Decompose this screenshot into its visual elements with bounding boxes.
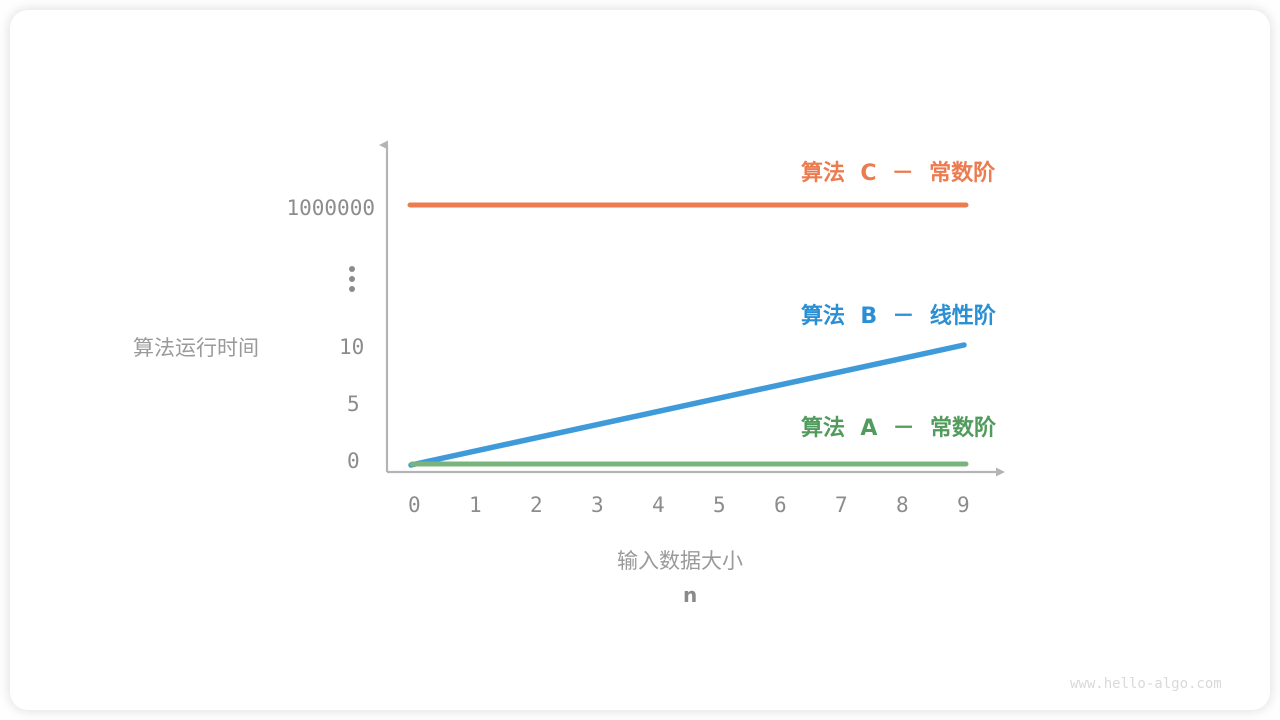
legend-item-algorithm-c: 算法 C － 常数阶 (801, 155, 995, 187)
x-tick-label-0: 0 (408, 493, 421, 517)
ellipsis-dot (349, 286, 355, 292)
x-tick-label-4: 4 (652, 493, 665, 517)
x-tick-label-9: 9 (957, 493, 970, 517)
y-tick-label-5: 5 (347, 392, 360, 416)
y-tick-label-1000000: 1000000 (286, 196, 375, 220)
legend-item-algorithm-b: 算法 B － 线性阶 (801, 298, 996, 330)
y-tick-label-10: 10 (339, 335, 364, 359)
ellipsis-dot (349, 266, 355, 272)
y-tick-label-0: 0 (347, 449, 360, 473)
screenshot-stage: 1000000 10 5 0 算法运行时间 0 1 2 3 4 5 6 7 8 … (0, 0, 1280, 720)
series-line-algorithm-b (411, 345, 964, 465)
y-axis-break-ellipsis (349, 266, 357, 292)
y-axis-title: 算法运行时间 (133, 332, 259, 362)
x-tick-label-1: 1 (469, 493, 482, 517)
x-tick-label-5: 5 (713, 493, 726, 517)
x-tick-label-7: 7 (835, 493, 848, 517)
ellipsis-dot (349, 276, 355, 282)
x-tick-label-6: 6 (774, 493, 787, 517)
watermark: www.hello-algo.com (1070, 676, 1222, 692)
x-tick-label-2: 2 (530, 493, 543, 517)
x-tick-label-3: 3 (591, 493, 604, 517)
x-axis-title-symbol: n (683, 583, 697, 607)
legend-item-algorithm-a: 算法 A － 常数阶 (801, 410, 996, 442)
x-tick-label-8: 8 (896, 493, 909, 517)
x-axis-title: 输入数据大小 (617, 545, 743, 575)
